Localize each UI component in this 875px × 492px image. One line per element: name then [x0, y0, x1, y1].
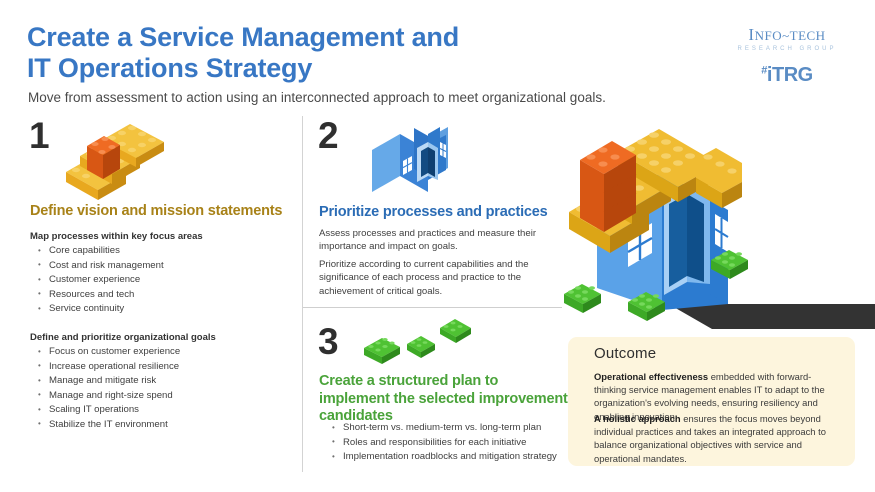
- list-item: Roles and responsibilities for each init…: [330, 436, 560, 451]
- step-1-number: 1: [29, 117, 49, 154]
- step-3-number: 3: [318, 323, 338, 360]
- page-title-line2: IT Operations Strategy: [27, 53, 667, 84]
- list-item: Short-term vs. medium-term vs. long-term…: [330, 421, 560, 436]
- blue-lego-walls-icon: [370, 118, 460, 203]
- info-tech-tagline: RESEARCH GROUP: [717, 46, 857, 52]
- outcome-paragraph-2-lead: A holistic approach: [594, 413, 681, 424]
- list-item: Service continuity: [36, 302, 286, 317]
- itrg-mark: #iTRG: [717, 65, 857, 85]
- yellow-lego-stairs-icon: [60, 120, 170, 205]
- list-item: Stabilize the IT environment: [36, 418, 286, 433]
- list-item: Core capabilities: [36, 244, 286, 259]
- green-lego-bricks-icon: [358, 318, 473, 368]
- step-2-paragraph-1: Assess processes and practices and measu…: [319, 227, 537, 254]
- brand-logo: INFO~TECH RESEARCH GROUP #iTRG: [717, 26, 857, 85]
- itrg-mark-text: iTRG: [767, 64, 813, 86]
- page-title: Create a Service Management and IT Opera…: [27, 22, 667, 85]
- step-2-heading: Prioritize processes and practices: [319, 204, 569, 222]
- lego-house-illustration: [556, 112, 875, 362]
- outcome-paragraph-2: A holistic approach ensures the focus mo…: [594, 412, 840, 465]
- step-2-number: 2: [318, 117, 338, 154]
- list-item: Manage and mitigate risk: [36, 374, 286, 389]
- step-3-list: Short-term vs. medium-term vs. long-term…: [330, 421, 560, 465]
- step-divider-horizontal: [303, 307, 562, 308]
- list-item: Focus on customer experience: [36, 345, 286, 360]
- list-item: Manage and right-size spend: [36, 389, 286, 404]
- info-tech-wordmark-rest: NFO~TECH: [755, 28, 826, 43]
- outcome-title: Outcome: [594, 345, 656, 362]
- page-subtitle: Move from assessment to action using an …: [28, 90, 748, 105]
- list-item: Customer experience: [36, 273, 286, 288]
- step-1-subheading-2: Define and prioritize organizational goa…: [30, 332, 216, 343]
- step-2-paragraph-2: Prioritize according to current capabili…: [319, 258, 537, 298]
- step-1-list-2: Focus on customer experience Increase op…: [36, 345, 286, 433]
- list-item: Scaling IT operations: [36, 403, 286, 418]
- page-title-line1: Create a Service Management and: [27, 22, 459, 52]
- list-item: Resources and tech: [36, 288, 286, 303]
- info-tech-wordmark: INFO~TECH: [717, 26, 857, 43]
- list-item: Cost and risk management: [36, 259, 286, 274]
- list-item: Implementation roadblocks and mitigation…: [330, 450, 560, 465]
- list-item: Increase operational resilience: [36, 360, 286, 375]
- infographic-page: Create a Service Management and IT Opera…: [0, 0, 875, 492]
- step-3-heading: Create a structured plan to implement th…: [319, 373, 569, 426]
- column-divider-vertical: [302, 116, 303, 472]
- outcome-paragraph-1-lead: Operational effectiveness: [594, 371, 708, 382]
- step-1-heading: Define vision and mission statements: [30, 203, 300, 221]
- step-1-list-1: Core capabilities Cost and risk manageme…: [36, 244, 286, 317]
- step-1-subheading-1: Map processes within key focus areas: [30, 231, 203, 242]
